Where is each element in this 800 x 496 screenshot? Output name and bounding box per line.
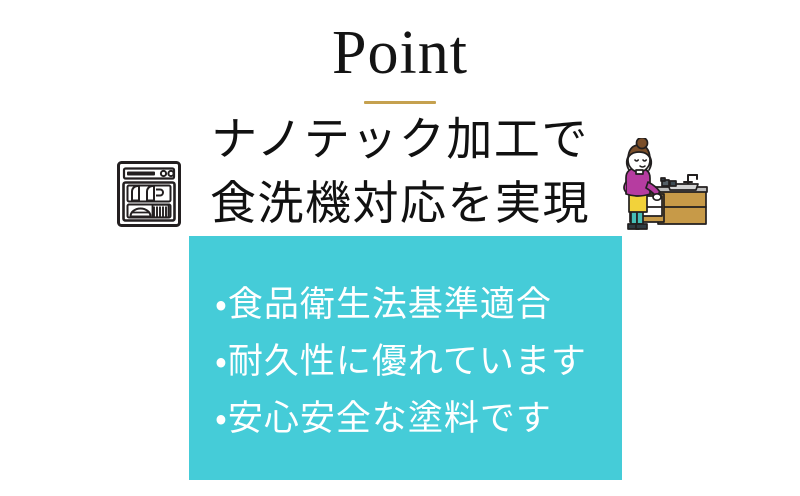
list-item: ・安心安全な塗料です [215,390,612,447]
feature-bullet-list: ・食品衛生法基準適合 ・耐久性に優れています ・安心安全な塗料です [215,276,612,447]
dishwasher-icon [116,160,182,228]
feature-panel: ・食品衛生法基準適合 ・耐久性に優れています ・安心安全な塗料です [189,236,622,480]
list-item: ・耐久性に優れています [215,333,612,390]
page-title: Point [0,22,800,84]
list-item: ・食品衛生法基準適合 [215,276,612,333]
woman-at-kitchen-sink-illustration [612,138,708,234]
slide-canvas: Point ナノテック加工で 食洗機対応を実現 [0,0,800,496]
gold-divider [364,101,436,104]
